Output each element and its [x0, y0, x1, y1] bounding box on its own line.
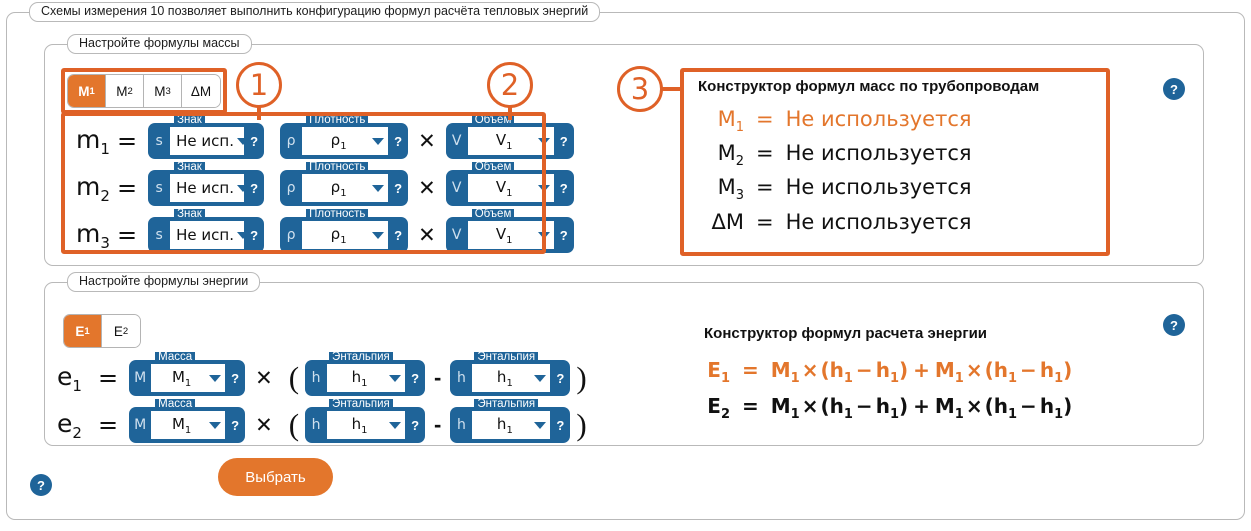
- energy-row-2-enthalpy-b-field[interactable]: Энтальпия h h1 ?: [450, 407, 570, 443]
- mass-row-1-volume-value: V1: [474, 131, 535, 152]
- mass-row-2-volume-caption: Объем: [472, 162, 515, 174]
- energy-formula-row-2: e2 = Масса M M1 ? ✕ ( Энтальпия h h1 ? -…: [57, 402, 593, 448]
- energy-row-1-enthalpy-a-caption: Энтальпия: [329, 352, 393, 364]
- energy-row-1-enthalpy-b-help-icon[interactable]: ?: [550, 371, 570, 386]
- mass-row-2-sign-value: Не исп.: [176, 179, 234, 197]
- energy-row-2-close-paren: ): [576, 411, 586, 439]
- mass-row-3-density-symbol: ρ: [280, 227, 302, 243]
- mass-preview-title: Конструктор формул масс по трубопроводам: [698, 78, 1039, 95]
- energy-row-2-enthalpy-a-value: h1: [333, 415, 386, 436]
- tab-mass-m2[interactable]: M2: [106, 75, 144, 107]
- mass-row-1-operator: ✕: [418, 129, 436, 153]
- energy-row-1-equals: =: [98, 364, 118, 392]
- energy-row-1-open-paren: (: [289, 364, 299, 392]
- chevron-down-icon[interactable]: [372, 232, 384, 239]
- mass-row-2-density-help-icon[interactable]: ?: [388, 181, 408, 196]
- energy-row-2-mass-value: M1: [157, 415, 206, 436]
- mass-row-1-density-value: ρ1: [308, 131, 369, 152]
- energy-row-1-enthalpy-a-help-icon[interactable]: ?: [405, 371, 425, 386]
- mass-row-3-density-help-icon[interactable]: ?: [388, 228, 408, 243]
- tab-energy-e2-label: E: [114, 324, 123, 339]
- energy-row-1-minus: -: [434, 365, 441, 391]
- mass-row-3-volume-field[interactable]: Объем V V1 ?: [446, 217, 574, 253]
- mass-row-2-density-value: ρ1: [308, 178, 369, 199]
- mass-formula-row-3: m3 = Знак s Не исп. ? Плотность ρ ρ1 ? ✕…: [76, 212, 574, 258]
- energy-row-2-mass-symbol: M: [129, 417, 151, 433]
- energy-row-1-operator: ✕: [255, 366, 273, 390]
- energy-row-1-close-paren: ): [576, 364, 586, 392]
- mass-row-2-equals: =: [117, 174, 137, 202]
- mass-row-2-volume-field[interactable]: Объем V V1 ?: [446, 170, 574, 206]
- mass-tab-strip[interactable]: M1 M2 M3 ΔM: [67, 74, 221, 108]
- mass-row-1-volume-symbol: V: [446, 133, 468, 149]
- energy-row-2-name: e2: [57, 409, 91, 442]
- tab-mass-m1[interactable]: M1: [68, 75, 106, 107]
- energy-row-1-enthalpy-b-field[interactable]: Энтальпия h h1 ?: [450, 360, 570, 396]
- mass-row-3-density-value: ρ1: [308, 225, 369, 246]
- energy-preview-formula-e1: M1×(h1−h1)+M1×(h1−h1): [771, 358, 1072, 386]
- energy-section-help-icon[interactable]: ?: [1163, 314, 1185, 336]
- mass-row-3-equals: =: [117, 221, 137, 249]
- energy-row-1-enthalpy-b-symbol: h: [450, 370, 472, 386]
- mass-row-1-density-symbol: ρ: [280, 133, 302, 149]
- chevron-down-icon[interactable]: [538, 185, 550, 192]
- mass-row-1-equals: =: [117, 127, 137, 155]
- chevron-down-icon[interactable]: [237, 138, 249, 145]
- mass-row-3-name: m3: [76, 219, 110, 252]
- mass-row-2-density-caption: Плотность: [306, 162, 368, 174]
- energy-row-2-enthalpy-b-help-icon[interactable]: ?: [550, 418, 570, 433]
- callout-3-leader: [661, 87, 683, 91]
- energy-row-1-enthalpy-b-caption: Энтальпия: [474, 352, 538, 364]
- tab-mass-dm[interactable]: ΔM: [182, 75, 220, 107]
- tab-mass-m2-sub: 2: [127, 86, 132, 97]
- mass-row-1-sign-caption: Знак: [174, 115, 205, 127]
- energy-row-2-enthalpy-a-combo[interactable]: h1: [327, 411, 405, 439]
- mass-row-2-volume-value: V1: [474, 178, 535, 199]
- energy-row-2-minus: -: [434, 412, 441, 438]
- mass-row-3-volume-value: V1: [474, 225, 535, 246]
- mass-preview-row-dm: ΔM = Не используется: [698, 210, 1039, 234]
- energy-row-2-enthalpy-a-help-icon[interactable]: ?: [405, 418, 425, 433]
- mass-formula-row-1: m1 = Знак s Не исп. ? Плотность ρ ρ1 ? ✕…: [76, 118, 574, 164]
- mass-row-1-sign-combo[interactable]: Не исп.: [170, 127, 244, 155]
- energy-row-1-mass-caption: Масса: [155, 352, 195, 364]
- mass-preview-row-m3: M3 = Не используется: [698, 175, 1039, 203]
- energy-preview-row-e1: E1 = M1×(h1−h1)+M1×(h1−h1): [700, 358, 1072, 386]
- energy-row-2-mass-help-icon[interactable]: ?: [225, 418, 245, 433]
- energy-preview-formula-e2: M1×(h1−h1)+M1×(h1−h1): [771, 394, 1072, 422]
- energy-row-2-enthalpy-b-symbol: h: [450, 417, 472, 433]
- energy-row-1-mass-symbol: M: [129, 370, 151, 386]
- mass-row-3-sign-combo[interactable]: Не исп.: [170, 221, 244, 249]
- footer-help-icon[interactable]: ?: [30, 474, 52, 496]
- callout-1: 1: [236, 62, 282, 108]
- energy-row-1-enthalpy-a-symbol: h: [305, 370, 327, 386]
- tab-mass-m3[interactable]: M3: [144, 75, 182, 107]
- energy-row-1-mass-help-icon[interactable]: ?: [225, 371, 245, 386]
- tab-mass-dm-label: ΔM: [191, 84, 211, 99]
- chevron-down-icon[interactable]: [372, 185, 384, 192]
- mass-row-3-volume-combo[interactable]: V1: [468, 221, 554, 249]
- tab-mass-m3-sub: 3: [165, 86, 170, 97]
- energy-row-2-mass-field[interactable]: Масса M M1 ?: [129, 407, 245, 443]
- mass-row-3-sign-field[interactable]: Знак s Не исп. ?: [148, 217, 264, 253]
- mass-row-1-sign-symbol: s: [148, 133, 170, 149]
- energy-preview-title: Конструктор формул расчета энергии: [704, 325, 1072, 342]
- energy-row-2-open-paren: (: [289, 411, 299, 439]
- tab-mass-m3-label: M: [154, 84, 165, 99]
- mass-row-2-sign-symbol: s: [148, 180, 170, 196]
- mass-row-2-sign-caption: Знак: [174, 162, 205, 174]
- mass-row-3-density-caption: Плотность: [306, 209, 368, 221]
- callout-2: 2: [487, 62, 533, 108]
- mass-preview-row-m2: M2 = Не используется: [698, 141, 1039, 169]
- energy-row-2-mass-combo[interactable]: M1: [151, 411, 225, 439]
- energy-section-legend: Настройте формулы энергии: [67, 272, 260, 292]
- mass-section-legend: Настройте формулы массы: [67, 34, 252, 54]
- energy-row-2-enthalpy-a-caption: Энтальпия: [329, 399, 393, 411]
- tab-mass-m1-label: M: [78, 84, 89, 99]
- mass-row-3-operator: ✕: [418, 223, 436, 247]
- mass-row-3-volume-symbol: V: [446, 227, 468, 243]
- mass-row-2-operator: ✕: [418, 176, 436, 200]
- mass-row-1-sign-field[interactable]: Знак s Не исп. ?: [148, 123, 264, 159]
- mass-row-1-density-help-icon[interactable]: ?: [388, 134, 408, 149]
- energy-row-2-mass-caption: Масса: [155, 399, 195, 411]
- chevron-down-icon[interactable]: [389, 375, 401, 382]
- energy-row-1-mass-field[interactable]: Масса M M1 ?: [129, 360, 245, 396]
- mass-row-3-density-combo[interactable]: ρ1: [302, 221, 388, 249]
- mass-row-2-volume-combo[interactable]: V1: [468, 174, 554, 202]
- mass-row-1-sign-value: Не исп.: [176, 132, 234, 150]
- energy-row-1-name: e1: [57, 362, 91, 395]
- tab-energy-e1-label: E: [75, 324, 84, 339]
- mass-row-3-volume-help-icon[interactable]: ?: [554, 228, 574, 243]
- mass-preview-row-m1: M1 = Не используется: [698, 107, 1039, 135]
- energy-preview-panel: Конструктор формул расчета энергии E1 = …: [700, 325, 1072, 430]
- energy-preview-row-e2: E2 = M1×(h1−h1)+M1×(h1−h1): [700, 394, 1072, 422]
- energy-row-1-enthalpy-a-field[interactable]: Энтальпия h h1 ?: [305, 360, 425, 396]
- chevron-down-icon[interactable]: [209, 422, 221, 429]
- energy-tab-strip[interactable]: E1 E2: [63, 314, 141, 348]
- mass-row-1-density-field[interactable]: Плотность ρ ρ1 ?: [280, 123, 408, 159]
- mass-row-2-name: m2: [76, 172, 110, 205]
- mass-row-3-density-field[interactable]: Плотность ρ ρ1 ?: [280, 217, 408, 253]
- mass-row-2-volume-symbol: V: [446, 180, 468, 196]
- tab-energy-e1[interactable]: E1: [64, 315, 102, 347]
- energy-formula-row-1: e1 = Масса M M1 ? ✕ ( Энтальпия h h1 ? -…: [57, 355, 593, 401]
- energy-row-1-enthalpy-a-combo[interactable]: h1: [327, 364, 405, 392]
- mass-row-1-volume-combo[interactable]: V1: [468, 127, 554, 155]
- mass-row-1-volume-field[interactable]: Объем V V1 ?: [446, 123, 574, 159]
- energy-row-2-operator: ✕: [255, 413, 273, 437]
- energy-row-2-enthalpy-b-caption: Энтальпия: [474, 399, 538, 411]
- chevron-down-icon[interactable]: [538, 232, 550, 239]
- energy-row-1-mass-combo[interactable]: M1: [151, 364, 225, 392]
- mass-row-1-volume-help-icon[interactable]: ?: [554, 134, 574, 149]
- mass-formula-row-2: m2 = Знак s Не исп. ? Плотность ρ ρ1 ? ✕…: [76, 165, 574, 211]
- energy-row-2-enthalpy-a-symbol: h: [305, 417, 327, 433]
- chevron-down-icon[interactable]: [534, 375, 546, 382]
- mass-row-3-volume-caption: Объем: [472, 209, 515, 221]
- chevron-down-icon[interactable]: [538, 138, 550, 145]
- mass-row-1-density-caption: Плотность: [306, 115, 368, 127]
- callout-3: 3: [617, 66, 663, 112]
- chevron-down-icon[interactable]: [237, 232, 249, 239]
- mass-row-2-volume-help-icon[interactable]: ?: [554, 181, 574, 196]
- energy-row-1-enthalpy-a-value: h1: [333, 368, 386, 389]
- energy-row-2-enthalpy-a-field[interactable]: Энтальпия h h1 ?: [305, 407, 425, 443]
- mass-row-3-sign-caption: Знак: [174, 209, 205, 221]
- chevron-down-icon[interactable]: [372, 138, 384, 145]
- header-legend: Схемы измерения 10 позволяет выполнить к…: [29, 2, 600, 22]
- mass-row-2-density-symbol: ρ: [280, 180, 302, 196]
- energy-row-2-equals: =: [98, 411, 118, 439]
- chevron-down-icon[interactable]: [209, 375, 221, 382]
- energy-row-1-enthalpy-b-combo[interactable]: h1: [472, 364, 550, 392]
- mass-row-2-sign-field[interactable]: Знак s Не исп. ?: [148, 170, 264, 206]
- chevron-down-icon[interactable]: [389, 422, 401, 429]
- mass-row-2-sign-combo[interactable]: Не исп.: [170, 174, 244, 202]
- mass-row-3-sign-value: Не исп.: [176, 226, 234, 244]
- tab-energy-e2[interactable]: E2: [102, 315, 140, 347]
- chevron-down-icon[interactable]: [534, 422, 546, 429]
- energy-row-1-enthalpy-b-value: h1: [478, 368, 531, 389]
- submit-button[interactable]: Выбрать: [218, 458, 333, 496]
- mass-row-3-sign-symbol: s: [148, 227, 170, 243]
- mass-row-2-density-field[interactable]: Плотность ρ ρ1 ?: [280, 170, 408, 206]
- mass-section-help-icon[interactable]: ?: [1163, 78, 1185, 100]
- mass-row-2-density-combo[interactable]: ρ1: [302, 174, 388, 202]
- tab-mass-m1-sub: 1: [89, 86, 94, 97]
- energy-row-2-enthalpy-b-combo[interactable]: h1: [472, 411, 550, 439]
- chevron-down-icon[interactable]: [237, 185, 249, 192]
- tab-mass-m2-label: M: [116, 84, 127, 99]
- energy-row-2-enthalpy-b-value: h1: [478, 415, 531, 436]
- mass-row-1-density-combo[interactable]: ρ1: [302, 127, 388, 155]
- energy-row-1-mass-value: M1: [157, 368, 206, 389]
- mass-preview-panel: Конструктор формул масс по трубопроводам…: [698, 78, 1039, 240]
- mass-row-1-name: m1: [76, 125, 110, 158]
